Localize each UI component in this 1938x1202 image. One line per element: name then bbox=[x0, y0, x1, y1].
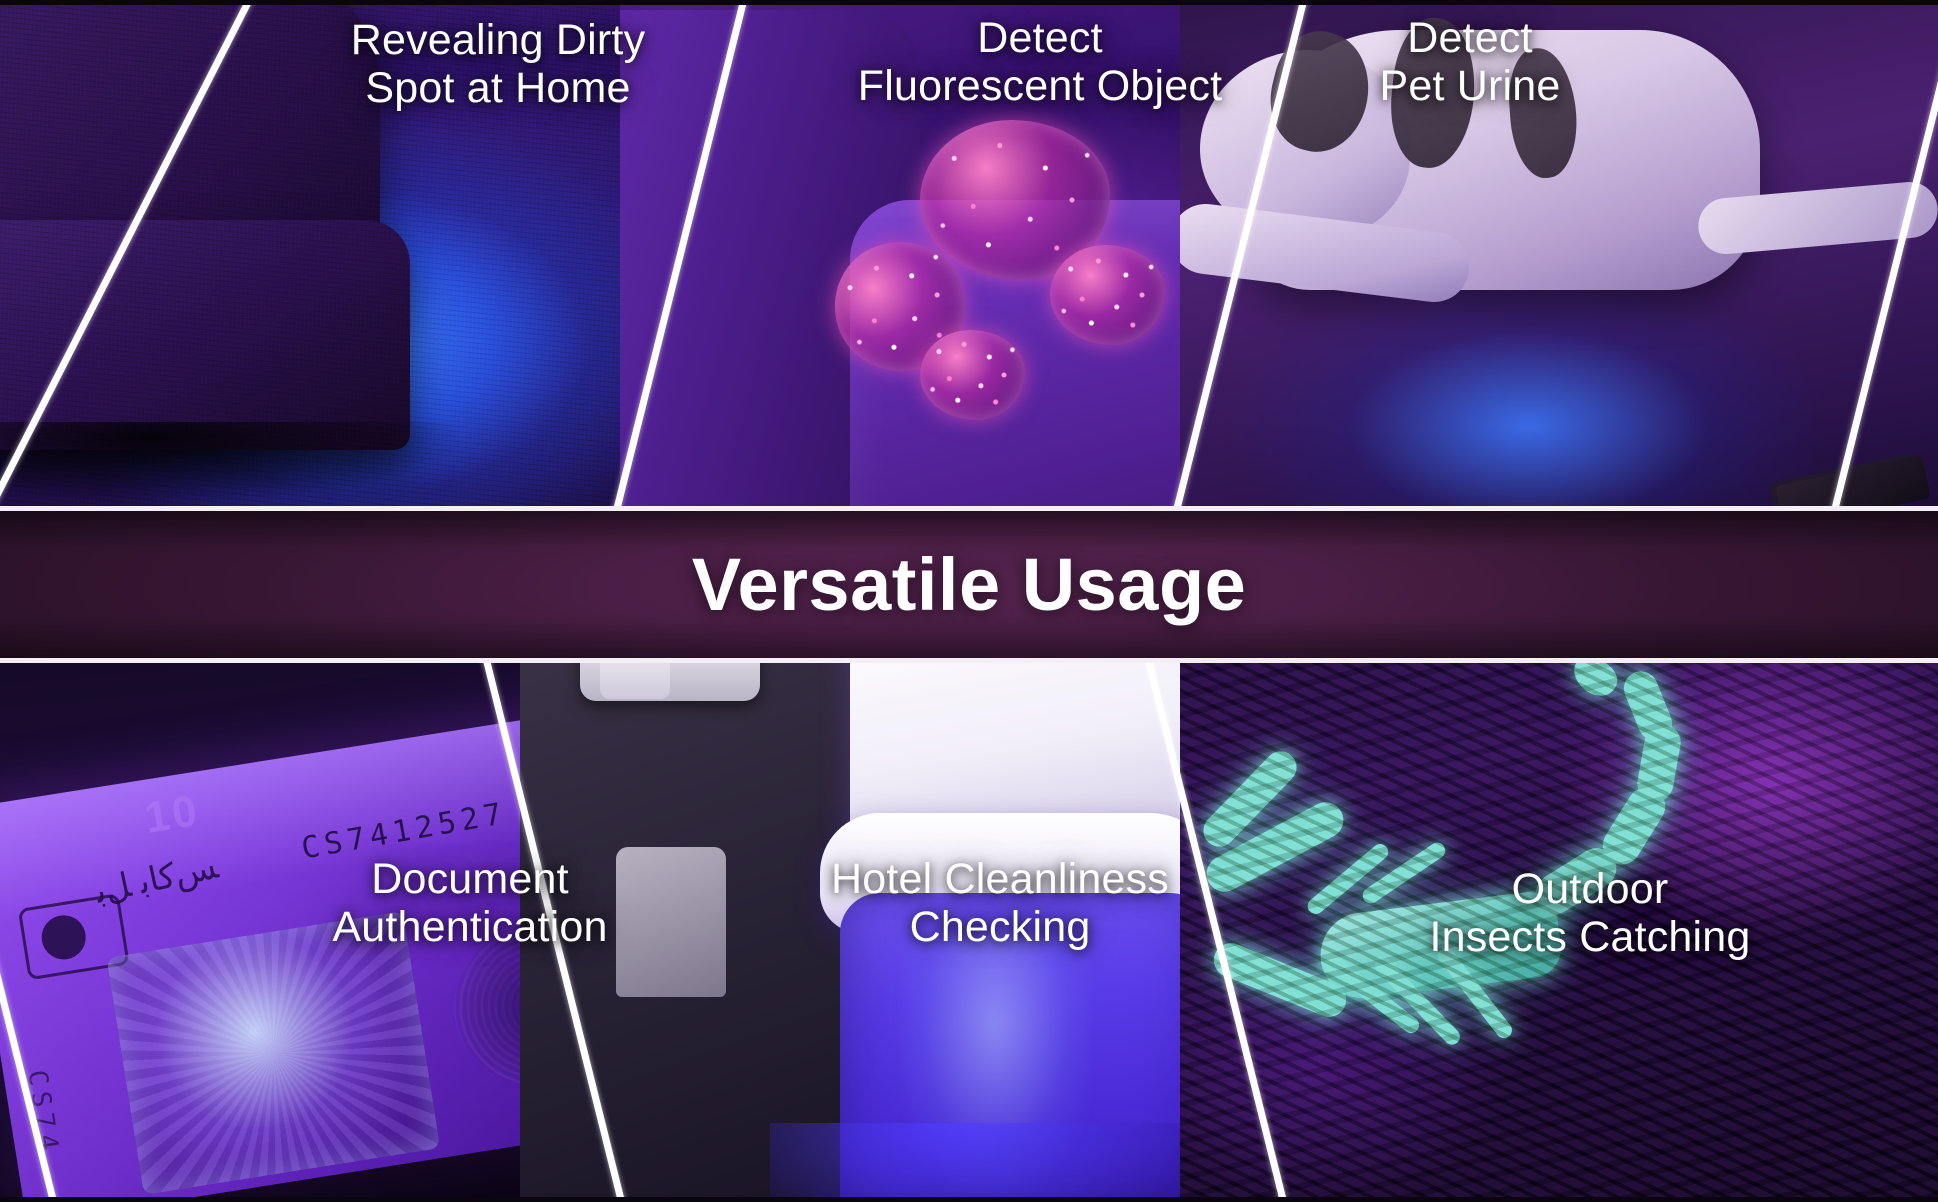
scorpion-tail-segment bbox=[1596, 780, 1673, 871]
bottom-panel-row: 10 ﺲﮐﺎﺑ ﻞﺑ CS7412527 CS74 bbox=[0, 663, 1938, 1202]
caption-document-authentication: Document Authentication bbox=[200, 855, 740, 951]
sofa-shadow bbox=[0, 422, 460, 502]
caption-detect-pet-urine: Detect Pet Urine bbox=[1200, 14, 1740, 110]
scorpion-leg bbox=[1372, 954, 1463, 1048]
toilet-paper-roll bbox=[600, 663, 670, 699]
banknote-portrait bbox=[106, 911, 440, 1195]
banknote-denomination: 10 bbox=[141, 786, 203, 844]
toilet-tank bbox=[850, 663, 1180, 833]
versatile-usage-banner: Versatile Usage bbox=[0, 506, 1938, 663]
scorpion-leg bbox=[1318, 950, 1422, 1036]
fluorescent-stone bbox=[1050, 245, 1165, 345]
caption-outdoor-insects-catching: Outdoor Insects Catching bbox=[1290, 865, 1890, 961]
bottom-seam bbox=[0, 1197, 1938, 1202]
top-panel-row: Revealing Dirty Spot at Home Detect Fluo… bbox=[0, 0, 1938, 506]
scorpion-stinger bbox=[1566, 663, 1623, 704]
scorpion-tail-segment bbox=[1619, 666, 1677, 745]
sofa-seat-shape bbox=[0, 220, 410, 450]
floor-object bbox=[1775, 455, 1931, 506]
toilet-paper-holder bbox=[580, 663, 760, 701]
banner-title: Versatile Usage bbox=[692, 542, 1247, 627]
caption-hotel-cleanliness-checking: Hotel Cleanliness Checking bbox=[690, 855, 1310, 951]
top-seam bbox=[0, 0, 1938, 5]
versatile-usage-infographic: Revealing Dirty Spot at Home Detect Fluo… bbox=[0, 0, 1938, 1202]
uv-floor-glow bbox=[770, 1123, 1240, 1202]
fluorescent-stone bbox=[920, 330, 1025, 420]
caption-revealing-dirty-spot: Revealing Dirty Spot at Home bbox=[258, 16, 738, 112]
scorpion-claw bbox=[1197, 745, 1303, 854]
scorpion-tail-segment bbox=[1635, 721, 1684, 804]
